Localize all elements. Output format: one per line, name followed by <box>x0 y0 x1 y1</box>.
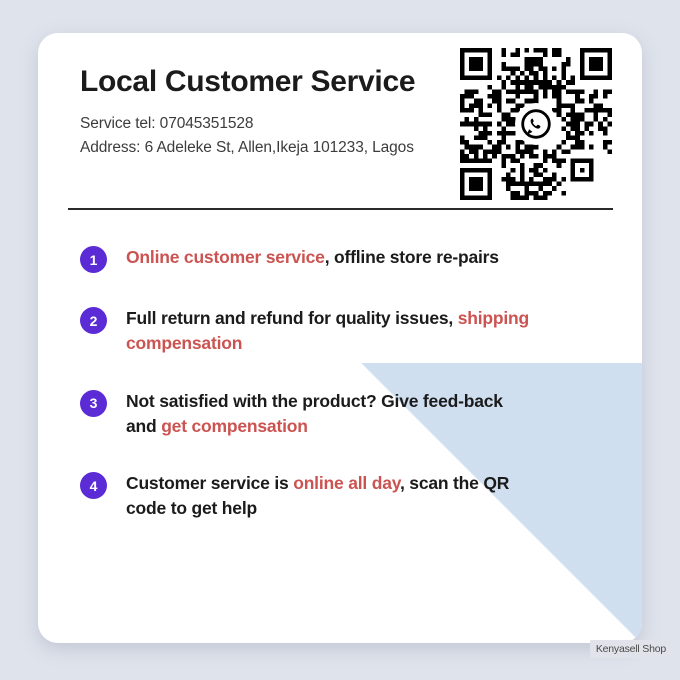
point-text-plain: , offline store re-pairs <box>325 247 499 267</box>
point-text-highlight: Online customer service <box>126 247 325 267</box>
point-text: Online customer service, offline store r… <box>126 245 499 270</box>
service-point-row: 4Customer service is online all day, sca… <box>80 471 614 521</box>
point-number-badge: 3 <box>80 390 107 417</box>
address-line: Address: 6 Adeleke St, Allen,Ikeja 10123… <box>80 136 460 160</box>
point-text: Full return and refund for quality issue… <box>126 306 536 356</box>
point-text-plain: Full return and refund for quality issue… <box>126 308 458 328</box>
service-points-list: 1Online customer service, offline store … <box>80 245 614 521</box>
point-text-highlight: get compensation <box>161 416 308 436</box>
point-number-badge: 2 <box>80 307 107 334</box>
watermark-badge: Kenyasell Shop <box>590 640 672 658</box>
point-number-badge: 4 <box>80 472 107 499</box>
poster-stage: Local Customer Service Service tel: 0704… <box>0 0 680 680</box>
point-text-highlight: online all day <box>293 473 400 493</box>
card-header: Local Customer Service Service tel: 0704… <box>80 65 460 160</box>
whatsapp-icon <box>515 103 557 145</box>
service-point-row: 1Online customer service, offline store … <box>80 245 614 273</box>
point-text: Customer service is online all day, scan… <box>126 471 536 521</box>
service-card: Local Customer Service Service tel: 0704… <box>38 33 642 643</box>
service-point-row: 2Full return and refund for quality issu… <box>80 306 614 356</box>
service-point-row: 3Not satisfied with the product? Give fe… <box>80 389 614 439</box>
section-divider <box>68 208 613 210</box>
page-title: Local Customer Service <box>80 65 460 98</box>
qr-code[interactable] <box>460 48 612 200</box>
point-text-plain: Customer service is <box>126 473 293 493</box>
point-text: Not satisfied with the product? Give fee… <box>126 389 536 439</box>
point-number-badge: 1 <box>80 246 107 273</box>
service-tel-line: Service tel: 07045351528 <box>80 112 460 136</box>
